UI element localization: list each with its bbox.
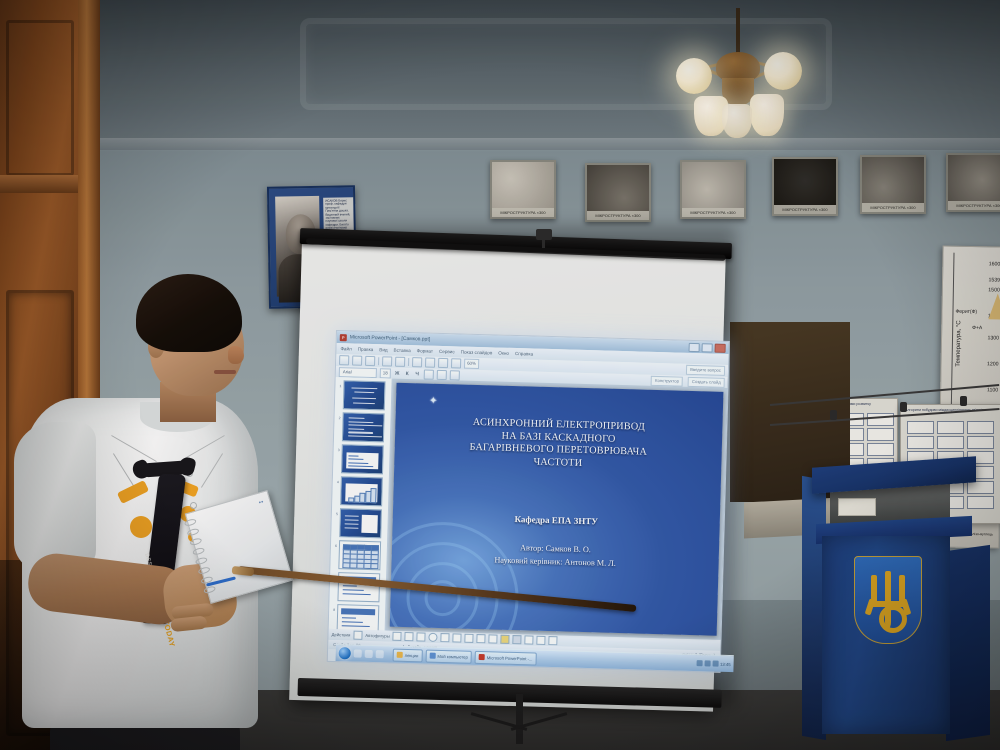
door-rail <box>0 175 78 193</box>
ellipse-icon[interactable] <box>429 633 438 642</box>
taskbar-window-buttons[interactable]: лекцииМой компьютерMicrosoft PowerPoint … <box>393 648 537 665</box>
slide-thumbnail-panel[interactable]: 12345678 <box>329 377 393 630</box>
wall-plate-caption: МІКРОСТРУКТУРА ×300 <box>492 208 554 217</box>
taskbar-item[interactable]: Microsoft PowerPoint -... <box>475 650 537 665</box>
numbering-icon[interactable] <box>450 370 460 380</box>
presenter-mouth <box>214 370 236 374</box>
flowchart-box <box>867 428 894 441</box>
podium-right-block <box>946 545 990 741</box>
poster-tick: 1300 <box>987 335 999 341</box>
thumbnail-number: 6 <box>333 540 337 548</box>
mouse-cursor-icon: ✦ <box>429 396 439 407</box>
flowchart-box <box>867 443 894 456</box>
toolbar-separator <box>408 358 409 366</box>
slide-layout-icon[interactable] <box>451 358 461 368</box>
thumbnail-number: 5 <box>334 508 338 516</box>
door-upper-panel <box>6 20 74 176</box>
minimize-icon[interactable] <box>689 342 700 351</box>
taskbar-clock[interactable]: 13:45 <box>720 661 731 666</box>
poster-label-ferrite: Ферит(Ф) <box>955 309 977 315</box>
screen-tripod-post <box>516 694 523 744</box>
underline-button[interactable]: Ч <box>414 371 421 377</box>
flowchart-box <box>937 436 964 449</box>
quicklaunch-media-icon[interactable] <box>376 650 384 658</box>
notepad-logo: ●● <box>258 499 264 505</box>
quicklaunch-explorer-icon[interactable] <box>365 650 373 658</box>
thumbnail-number: 2 <box>336 412 340 420</box>
taskbar-item[interactable]: лекции <box>393 648 423 662</box>
font-name-selector[interactable]: Arial <box>339 367 377 378</box>
clipart-icon[interactable] <box>477 634 486 643</box>
flowchart-box <box>907 421 934 434</box>
menu-item-6[interactable]: Показ слайдов <box>461 349 493 355</box>
close-icon[interactable] <box>715 343 726 352</box>
menu-item-5[interactable]: Сервис <box>439 349 455 354</box>
flowchart-box <box>967 481 994 494</box>
track-spotlight <box>960 396 967 406</box>
diagram-icon[interactable] <box>465 634 474 643</box>
menu-item-1[interactable]: Правка <box>358 347 374 352</box>
bullets-icon[interactable] <box>437 369 447 379</box>
poster-phase-region <box>988 293 1000 319</box>
screen-hook <box>536 229 552 240</box>
insert-chart-icon[interactable] <box>438 358 448 368</box>
thumbnail-number: 1 <box>337 380 341 388</box>
slide-thumbnail-4[interactable] <box>340 476 383 506</box>
presenter-sleeve <box>14 422 96 572</box>
font-size-selector[interactable]: 18 <box>380 368 391 378</box>
thumbnail-row[interactable]: 1 <box>337 380 390 410</box>
select-arrow-icon[interactable] <box>353 631 362 640</box>
wall-plate-caption: МІКРОСТРУКТУРА ×300 <box>682 208 744 217</box>
bold-button[interactable]: Ж <box>394 370 401 376</box>
slide-thumbnail-2[interactable] <box>342 412 385 442</box>
wall-plate: МІКРОСТРУКТУРА ×300 <box>680 160 746 219</box>
chandelier-rod <box>736 8 740 56</box>
podium-paper <box>838 498 876 516</box>
tryzub-shape <box>867 571 909 629</box>
slide-title-text: АСИНХРОННИЙ ЕЛЕКТРОПРИВОДНА БАЗІ КАСКАДН… <box>394 415 722 474</box>
wall-plate: МІКРОСТРУКТУРА ×300 <box>860 155 926 214</box>
shield-icon[interactable] <box>712 661 718 667</box>
wall-plate: МІКРОСТРУКТУРА ×300 <box>946 153 1000 212</box>
menu-item-0[interactable]: Файл <box>340 346 351 351</box>
thumbnail-row[interactable]: 8 <box>331 604 384 631</box>
autoshapes-menu-button[interactable]: Автофигуры <box>365 633 390 639</box>
menu-item-3[interactable]: Вставка <box>394 348 411 353</box>
poster-tick: 1600 <box>989 261 1000 267</box>
poster-tick: 1200 <box>987 361 999 367</box>
flowchart-box <box>937 421 964 434</box>
taskbar-item-label: Microsoft PowerPoint -... <box>487 655 533 661</box>
poster-tick: 1539 <box>988 277 1000 283</box>
chandelier-shade <box>750 94 784 136</box>
powerpoint-window[interactable]: P Microsoft PowerPoint - [Самков.ppt] Фа… <box>327 330 730 673</box>
ukraine-tryzub-icon <box>854 556 922 644</box>
computer-icon <box>429 653 435 659</box>
thumbnail-row[interactable]: 5 <box>333 508 386 538</box>
powerpoint-icon: P <box>340 334 347 341</box>
flowchart-box <box>967 436 994 449</box>
poster-tick: 1100 <box>987 387 998 393</box>
restore-icon[interactable] <box>702 343 713 352</box>
line-icon[interactable] <box>393 632 402 641</box>
shadow-icon[interactable] <box>537 636 546 645</box>
quicklaunch-browser-icon[interactable] <box>354 650 362 658</box>
line-color-icon[interactable] <box>513 635 522 644</box>
rectangle-icon[interactable] <box>417 632 426 641</box>
poster-y-axis-label: Температура, °C <box>956 320 963 367</box>
poster-tick-labels: 16001539150013921300120011001000 <box>944 246 1000 247</box>
arrow-icon[interactable] <box>405 632 414 641</box>
track-spotlight <box>830 410 837 420</box>
thumbnail-number: 3 <box>336 444 340 452</box>
start-button[interactable] <box>339 647 351 659</box>
undo-icon[interactable] <box>412 357 422 367</box>
slide-thumbnail-1[interactable] <box>343 380 386 410</box>
wall-plate-caption: МІКРОСТРУКТУРА ×300 <box>862 203 924 212</box>
toolbar-separator <box>378 357 379 365</box>
print-icon[interactable] <box>382 356 392 366</box>
volume-icon[interactable] <box>704 660 710 666</box>
wordart-icon[interactable] <box>453 633 462 642</box>
wall-plate: МІКРОСТРУКТУРА ×300 <box>772 157 838 216</box>
slide-thumbnail-3[interactable] <box>341 444 384 474</box>
fill-color-icon[interactable] <box>501 635 510 644</box>
thumbnail-row[interactable]: 4 <box>334 476 387 506</box>
menu-item-4[interactable]: Формат <box>417 348 433 353</box>
system-tray[interactable]: 13:45 <box>696 660 731 667</box>
wall-plate: МІКРОСТРУКТУРА ×300 <box>585 163 651 222</box>
wall-cornice <box>95 138 1000 152</box>
thumbnail-number: 8 <box>331 604 335 612</box>
picture-icon[interactable] <box>489 634 498 643</box>
zoom-selector[interactable]: 60% <box>464 359 479 369</box>
flowchart-box <box>967 496 994 509</box>
powerpoint-icon <box>479 654 485 660</box>
insert-table-icon[interactable] <box>425 358 435 368</box>
slide-decoration-rings <box>390 514 523 636</box>
font-color-icon[interactable] <box>525 635 534 644</box>
thumbnail-row[interactable]: 3 <box>335 444 388 474</box>
flowchart-box <box>907 436 934 449</box>
wall-plate: МІКРОСТРУКТУРА ×300 <box>490 160 556 219</box>
taskbar-item-label: Мой компьютер <box>437 653 468 659</box>
textbox-icon[interactable] <box>441 633 450 642</box>
new-slide-button[interactable]: Создать слайд <box>688 376 725 387</box>
ppt-window-controls[interactable] <box>689 342 726 352</box>
ppt-window-title: Microsoft PowerPoint - [Самков.ppt] <box>350 334 431 342</box>
italic-button[interactable]: К <box>404 370 411 376</box>
3d-icon[interactable] <box>549 636 558 645</box>
menu-item-2[interactable]: Вид <box>379 347 387 352</box>
presenter-nose <box>228 346 244 364</box>
menu-item-8[interactable]: Справка <box>515 351 533 357</box>
slide-thumbnail-5[interactable] <box>339 508 382 538</box>
folder-icon <box>397 652 403 658</box>
new-icon[interactable] <box>339 355 349 365</box>
wall-plate-caption: МІКРОСТРУКТУРА ×300 <box>948 201 1000 210</box>
save-icon[interactable] <box>365 356 375 366</box>
flowchart-box <box>967 421 994 434</box>
menu-item-7[interactable]: Окно <box>498 351 509 356</box>
chandelier-shade <box>722 104 752 138</box>
slide-thumbnail-8[interactable] <box>337 604 380 630</box>
chandelier-globe <box>676 58 712 94</box>
open-icon[interactable] <box>352 355 362 365</box>
thumbnail-row[interactable]: 6 <box>332 540 385 570</box>
wall-plate-caption: МІКРОСТРУКТУРА ×300 <box>774 205 836 214</box>
design-button[interactable]: Конструктор <box>651 375 683 386</box>
thumbnail-number: 4 <box>335 476 339 484</box>
presenter-hair <box>136 274 242 352</box>
network-icon[interactable] <box>696 660 702 666</box>
spelling-icon[interactable] <box>395 357 405 367</box>
actions-menu-button[interactable]: Действия <box>331 632 350 638</box>
ask-a-question-input[interactable]: Введите вопрос <box>686 365 725 376</box>
lecture-room-photo: МІКРОСТРУКТУРА ×300МІКРОСТРУКТУРА ×300МІ… <box>0 0 1000 750</box>
taskbar-item-label: лекции <box>405 652 419 657</box>
taskbar-item[interactable]: Мой компьютер <box>425 649 472 663</box>
poster-label-fa: Ф+А <box>972 325 982 331</box>
wall-plate-caption: МІКРОСТРУКТУРА ×300 <box>587 211 649 220</box>
track-spotlight <box>900 402 907 412</box>
align-icon[interactable] <box>424 369 434 379</box>
slide-thumbnail-6[interactable] <box>338 540 381 570</box>
thumbnail-row[interactable]: 2 <box>336 412 389 442</box>
chandelier-globe <box>764 52 802 90</box>
